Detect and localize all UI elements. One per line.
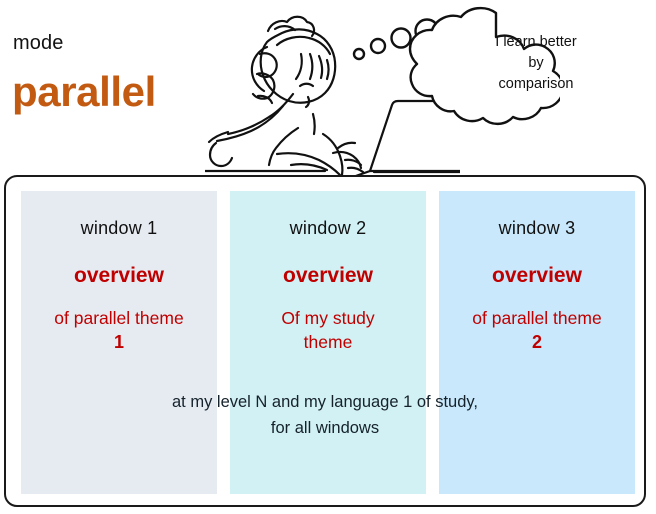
window-panel-1-content: window 1 overview of parallel theme 1 [21,217,217,354]
window-3-theme-number: 2 [439,330,635,354]
bubble-line-3: comparison [462,74,610,95]
window-2-overview: overview [230,263,426,288]
panels-row: window 1 overview of parallel theme 1 wi… [21,191,635,494]
window-panel-2[interactable]: window 2 overview Of my study theme [230,191,426,494]
window-1-overview: overview [21,263,217,288]
mode-label: mode [13,31,63,55]
window-1-label: window 1 [21,217,217,239]
window-2-theme-text: Of my study [281,308,374,328]
window-panel-3[interactable]: window 3 overview of parallel theme 2 [439,191,635,494]
window-3-overview: overview [439,263,635,288]
bubble-line-2: by [462,53,610,74]
window-panel-1[interactable]: window 1 overview of parallel theme 1 [21,191,217,494]
window-1-theme-number: 1 [21,330,217,354]
window-1-theme-text: of parallel theme [54,308,183,328]
window-panel-2-content: window 2 overview Of my study theme [230,217,426,354]
window-2-theme-number: theme [230,330,426,354]
thought-bubble-text: I learn better by comparison [462,32,610,95]
windows-container: window 1 overview of parallel theme 1 wi… [4,175,646,507]
window-panel-3-content: window 3 overview of parallel theme 2 [439,217,635,354]
window-2-label: window 2 [230,217,426,239]
mode-title: parallel [12,66,156,118]
window-3-theme-text: of parallel theme [472,308,601,328]
window-2-theme: Of my study theme [230,306,426,354]
bubble-line-1: I learn better [462,32,610,53]
window-3-theme: of parallel theme 2 [439,306,635,354]
window-3-label: window 3 [439,217,635,239]
window-1-theme: of parallel theme 1 [21,306,217,354]
header-area: mode parallel [0,0,656,175]
